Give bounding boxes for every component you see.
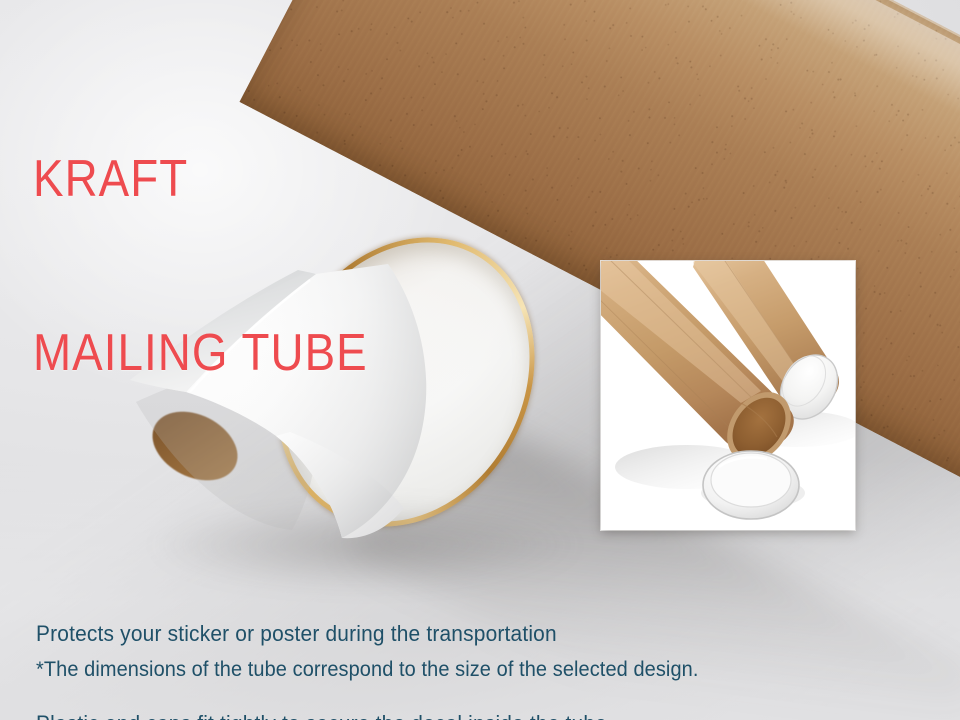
- page-title: KRAFT MAILING TUBE: [33, 34, 368, 498]
- inset-product-photo: [601, 261, 855, 530]
- blurb-line-2: Plastic end caps fit tightly to secure t…: [36, 709, 607, 720]
- headline-line-1: KRAFT: [33, 150, 368, 208]
- blurb-line-1: Protects your sticker or poster during t…: [36, 619, 607, 649]
- feature-description: Protects your sticker or poster during t…: [36, 559, 607, 720]
- headline-line-2: MAILING TUBE: [33, 324, 368, 382]
- inset-photo-canvas: [601, 261, 855, 530]
- poster-canvas: KRAFT MAILING TUBE Protects your sticker…: [0, 0, 960, 720]
- footnote-text: *The dimensions of the tube correspond t…: [36, 656, 698, 684]
